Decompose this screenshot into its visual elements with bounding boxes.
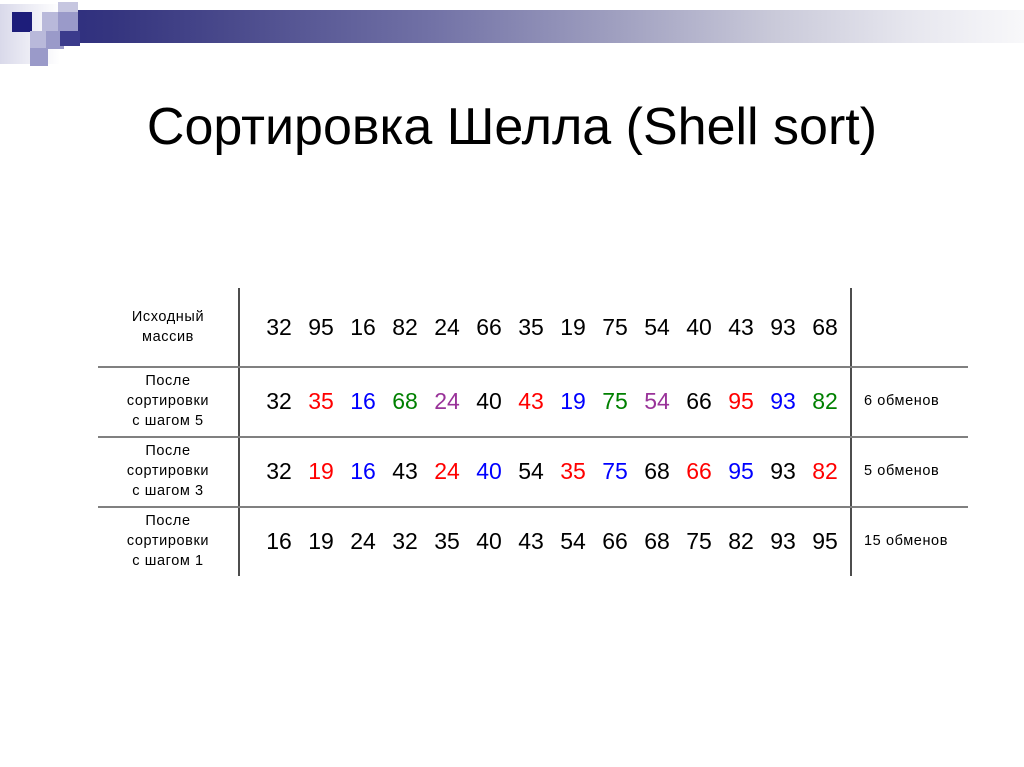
row-label-line: с шагом 5 (132, 411, 203, 431)
row-label: Исходныймассив (98, 288, 238, 366)
row-label-line: сортировки (127, 391, 209, 411)
mosaic-square-upper-c (58, 12, 78, 32)
array-value: 24 (426, 312, 468, 342)
swap-count: 5 обменов (852, 436, 968, 506)
array-value: 32 (258, 312, 300, 342)
array-value: 68 (636, 526, 678, 556)
mosaic-square-mid-c (60, 31, 80, 46)
array-value: 95 (720, 456, 762, 486)
array-value: 32 (384, 526, 426, 556)
row-label-line: сортировки (127, 461, 209, 481)
array-value: 93 (762, 386, 804, 416)
row-divider (98, 436, 968, 438)
table-row: Исходныймассив32951682246635197554404393… (98, 288, 968, 366)
array-value: 68 (384, 386, 426, 416)
row-values: 3219164324405435756866959382 (240, 436, 850, 506)
array-value: 66 (678, 386, 720, 416)
array-value: 82 (720, 526, 762, 556)
row-label: Послесортировкис шагом 1 (98, 506, 238, 576)
row-label-line: с шагом 1 (132, 551, 203, 571)
array-value: 43 (720, 312, 762, 342)
array-value: 66 (594, 526, 636, 556)
shell-sort-table: Исходныймассив32951682246635197554404393… (98, 288, 968, 576)
array-value: 68 (804, 312, 846, 342)
array-value: 75 (594, 386, 636, 416)
array-value: 32 (258, 456, 300, 486)
array-value: 24 (342, 526, 384, 556)
array-value: 16 (342, 312, 384, 342)
array-value: 93 (762, 526, 804, 556)
array-value: 66 (468, 312, 510, 342)
row-label: Послесортировкис шагом 3 (98, 436, 238, 506)
array-value: 16 (258, 526, 300, 556)
array-value: 40 (468, 386, 510, 416)
array-value: 43 (384, 456, 426, 486)
array-value: 82 (384, 312, 426, 342)
array-value: 66 (678, 456, 720, 486)
array-value: 24 (426, 386, 468, 416)
array-value: 19 (552, 312, 594, 342)
table-row: Послесортировкис шагом 33219164324405435… (98, 436, 968, 506)
row-label: Послесортировкис шагом 5 (98, 366, 238, 436)
array-value: 35 (300, 386, 342, 416)
array-value: 54 (552, 526, 594, 556)
array-value: 43 (510, 526, 552, 556)
row-label-line: с шагом 3 (132, 481, 203, 501)
array-value: 68 (636, 456, 678, 486)
swap-count (852, 288, 968, 366)
row-label-line: После (145, 371, 190, 391)
row-values: 3295168224663519755440439368 (240, 288, 850, 366)
row-divider (98, 366, 968, 368)
row-label-line: массив (142, 327, 194, 347)
array-value: 95 (300, 312, 342, 342)
array-value: 35 (510, 312, 552, 342)
page-title: Сортировка Шелла (Shell sort) (0, 96, 1024, 158)
array-value: 75 (594, 312, 636, 342)
header-gradient-bar (58, 10, 1024, 43)
array-value: 54 (636, 386, 678, 416)
array-value: 40 (468, 456, 510, 486)
row-label-line: После (145, 441, 190, 461)
array-value: 54 (510, 456, 552, 486)
array-value: 35 (426, 526, 468, 556)
array-value: 24 (426, 456, 468, 486)
mosaic-square-lower (30, 48, 48, 66)
array-value: 93 (762, 312, 804, 342)
array-value: 16 (342, 456, 384, 486)
row-label-line: После (145, 511, 190, 531)
array-value: 19 (552, 386, 594, 416)
array-value: 40 (468, 526, 510, 556)
array-value: 16 (342, 386, 384, 416)
row-values: 3235166824404319755466959382 (240, 366, 850, 436)
array-value: 43 (510, 386, 552, 416)
array-value: 95 (720, 386, 762, 416)
array-value: 40 (678, 312, 720, 342)
array-value: 82 (804, 456, 846, 486)
array-value: 82 (804, 386, 846, 416)
array-value: 75 (594, 456, 636, 486)
array-value: 32 (258, 386, 300, 416)
row-label-line: Исходный (132, 307, 204, 327)
array-value: 19 (300, 456, 342, 486)
array-value: 95 (804, 526, 846, 556)
table-row: Послесортировкис шагом 53235166824404319… (98, 366, 968, 436)
array-value: 35 (552, 456, 594, 486)
array-value: 75 (678, 526, 720, 556)
array-value: 54 (636, 312, 678, 342)
header-decoration (0, 0, 1024, 70)
mosaic-square-navy (12, 12, 32, 32)
array-value: 93 (762, 456, 804, 486)
row-values: 1619243235404354666875829395 (240, 506, 850, 576)
row-label-line: сортировки (127, 531, 209, 551)
swap-count: 6 обменов (852, 366, 968, 436)
row-divider (98, 506, 968, 508)
array-value: 19 (300, 526, 342, 556)
swap-count: 15 обменов (852, 506, 968, 576)
table-row: Послесортировкис шагом 11619243235404354… (98, 506, 968, 576)
